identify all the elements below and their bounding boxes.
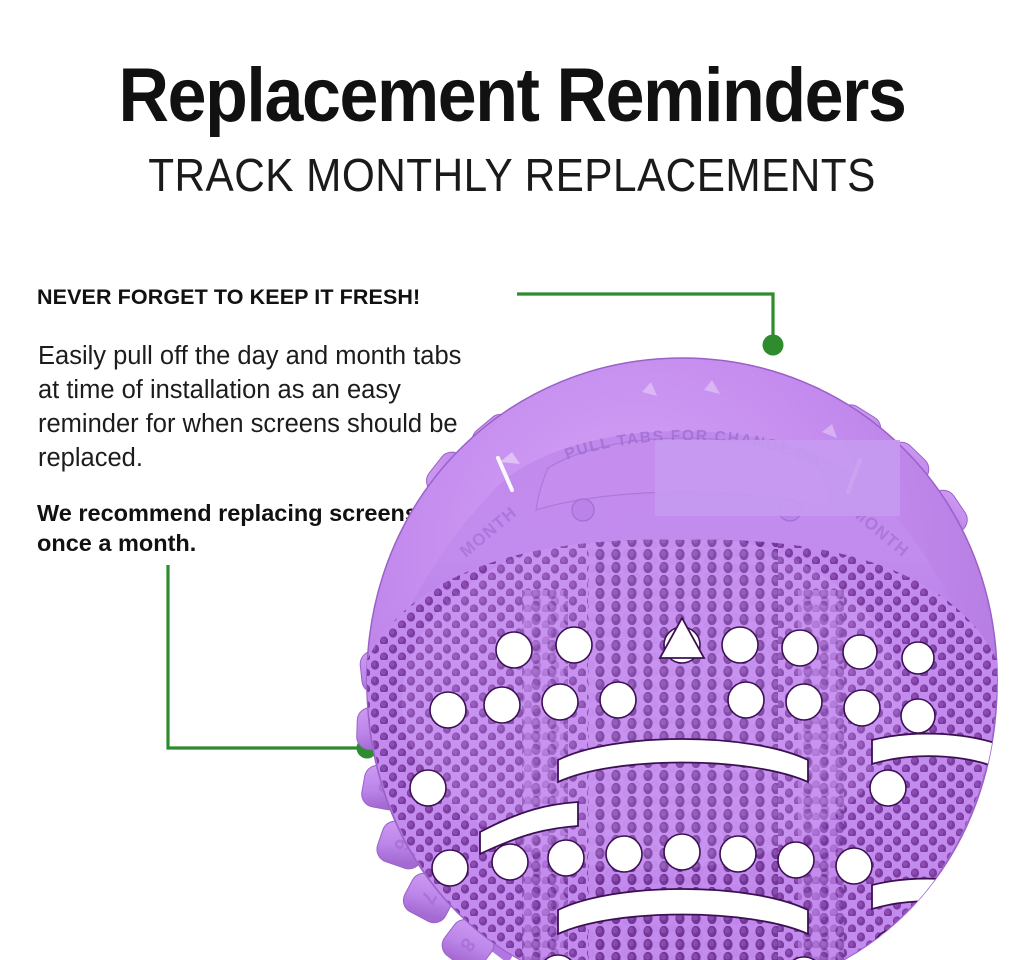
page-subtitle: TRACK MONTHLY REPLACEMENTS [41,152,983,198]
urinal-screen-svg: J F M A [352,340,1012,960]
leader-line-keep-it-fresh [517,294,773,336]
callout-heading-keep-it-fresh: NEVER FORGET TO KEEP IT FRESH! [37,285,420,310]
screen-body: PULL TABS FOR CHANGE DATE MONTH MONTH [352,340,1012,960]
product-image: J F M A [352,340,1024,960]
leader-line-replace-monthly [168,565,357,748]
poster-canvas: Replacement Reminders TRACK MONTHLY REPL… [0,0,1024,960]
page-title: Replacement Reminders [41,58,983,134]
header: Replacement Reminders TRACK MONTHLY REPL… [0,0,1024,198]
redacted-logo-patch [655,440,900,516]
urinal-screen-graphic: J F M A [352,340,1012,960]
peg-bump-left [572,499,594,521]
